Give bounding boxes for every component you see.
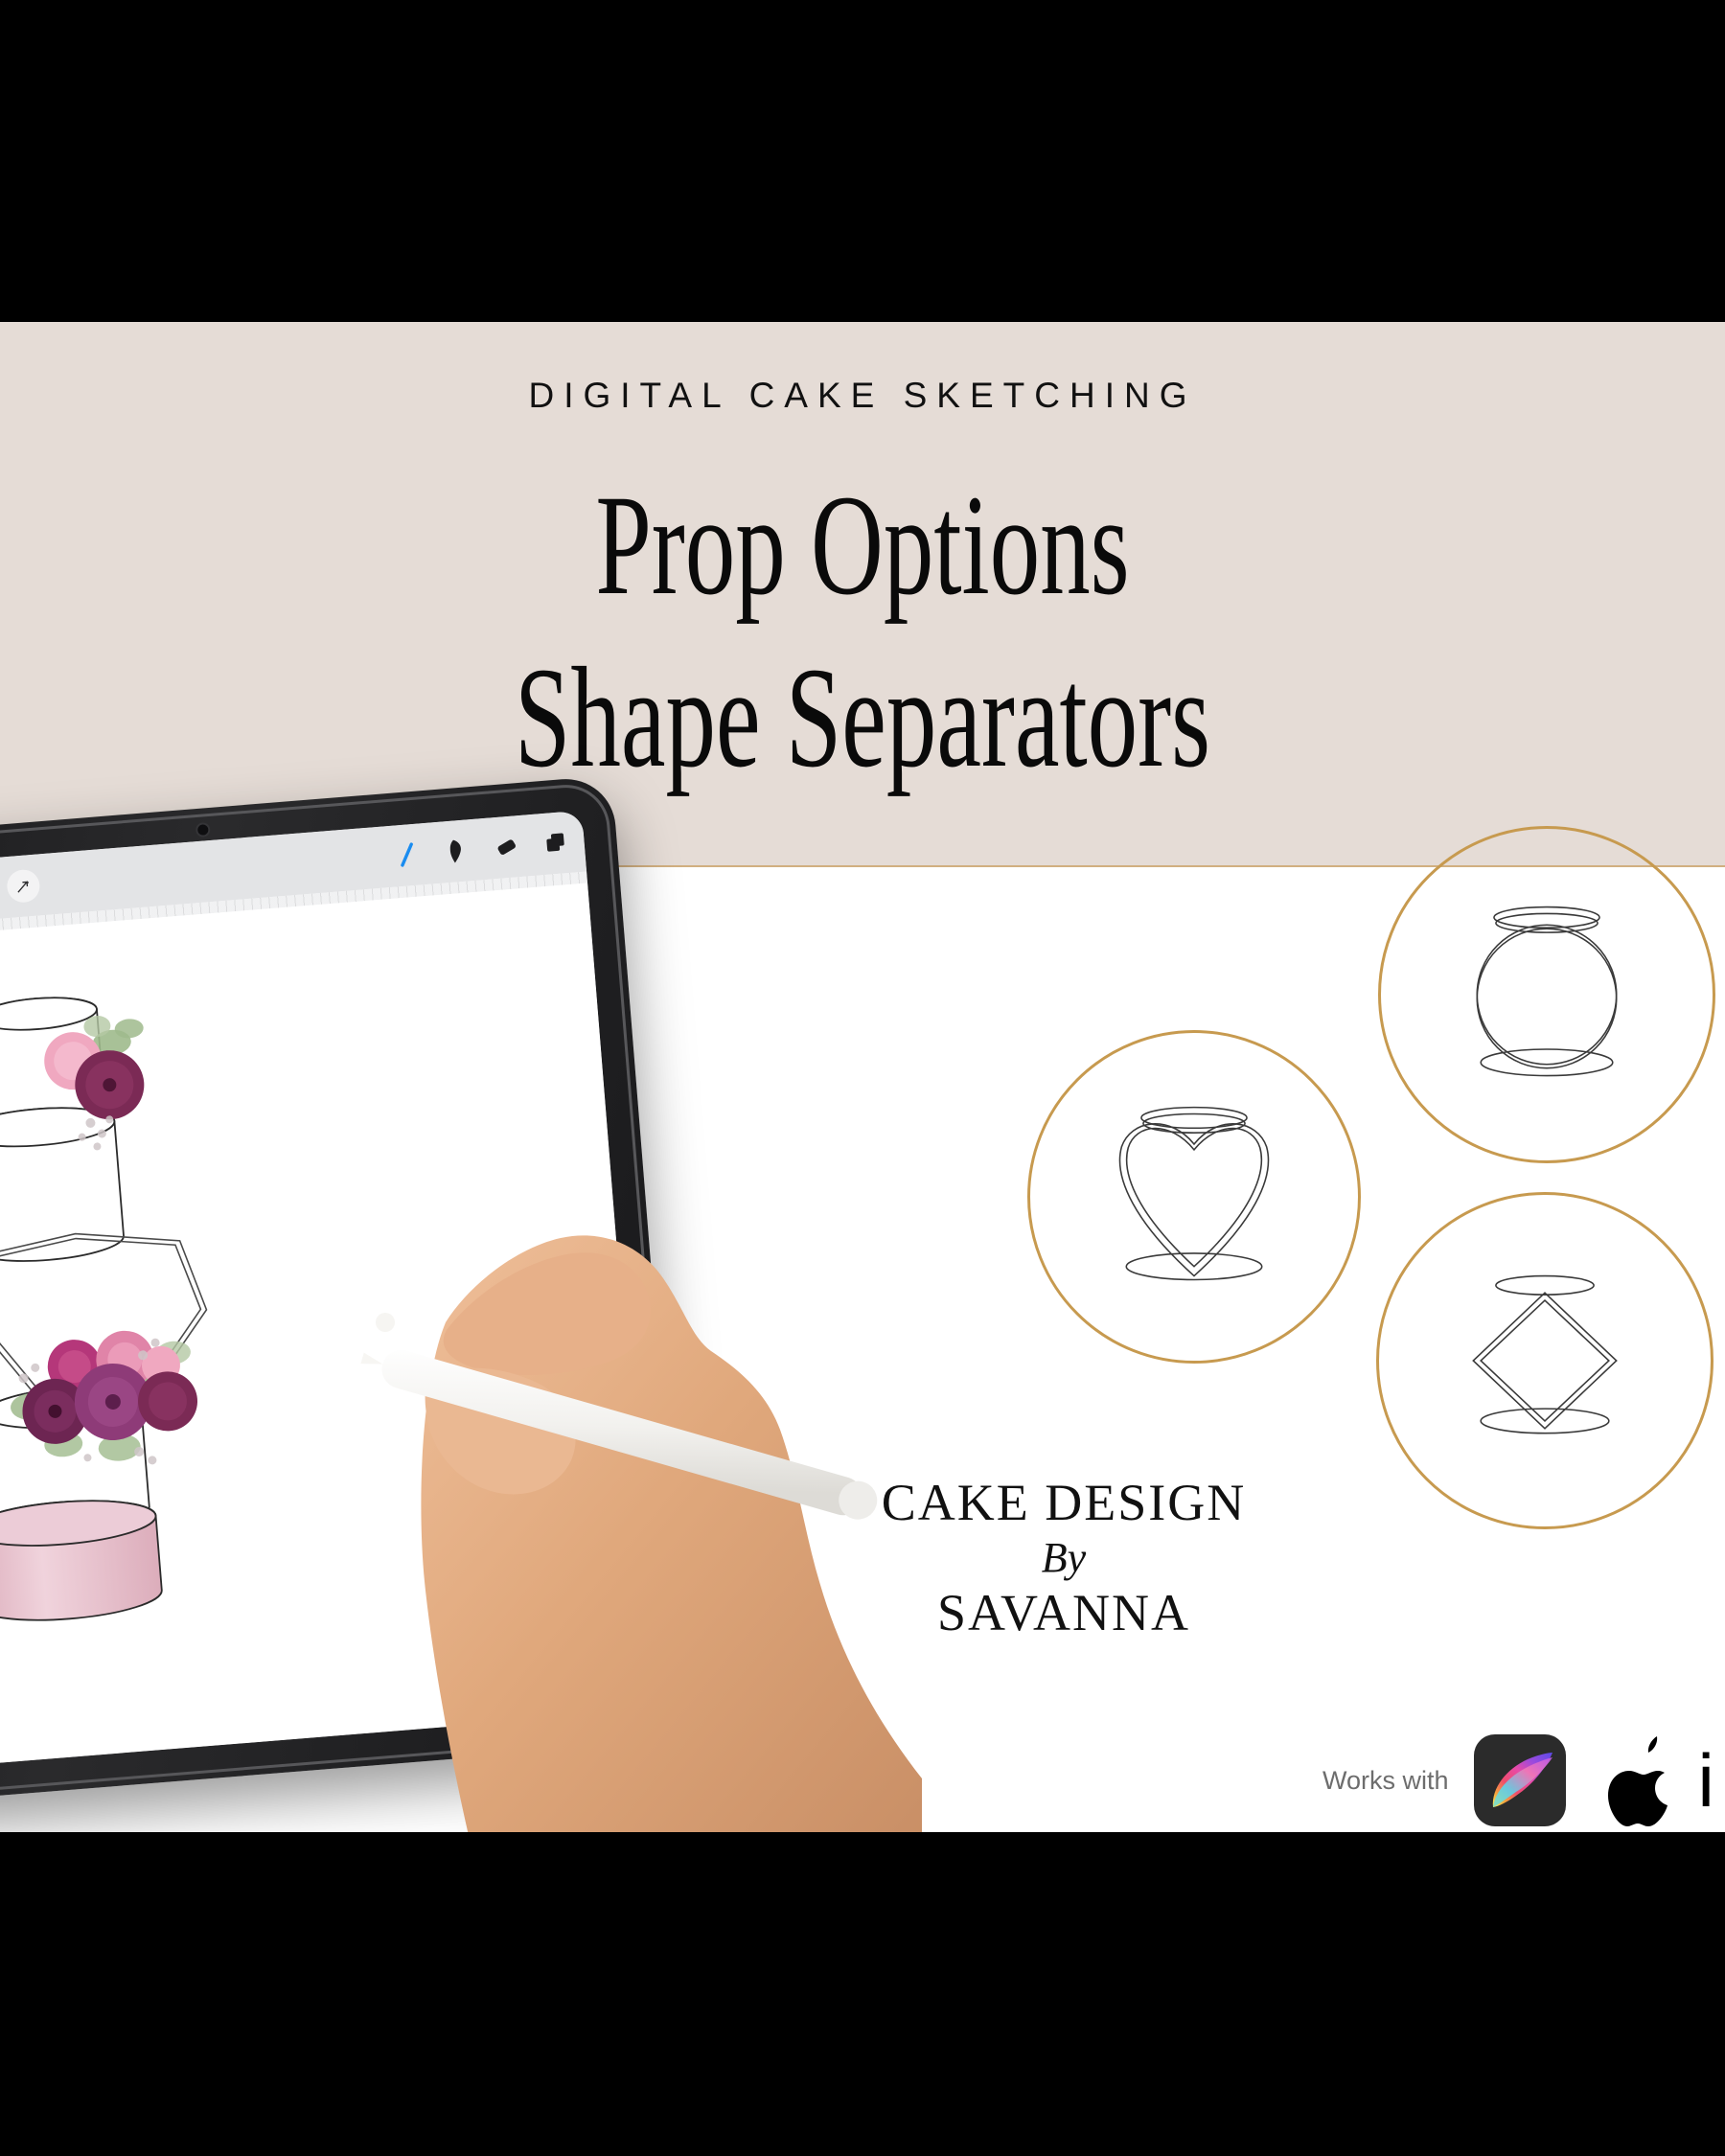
toolbar-right-group [394,828,570,870]
brush-icon[interactable] [394,839,421,870]
transform-icon[interactable] [6,868,41,904]
brand-line-2: SAVANNA [853,1586,1275,1640]
letterbox-top [0,0,1725,322]
toolbar-left-group: ry S [0,868,41,916]
apple-logo-icon [1591,1734,1673,1826]
poster-canvas: DIGITAL CAKE SKETCHING Prop Options Shap… [0,0,1725,2156]
cake-sketch-artwork [0,930,412,1721]
letterbox-bottom [0,1832,1725,2156]
procreate-icon [1474,1734,1566,1826]
ipad-label: i [1698,1747,1714,1814]
heart-separator[interactable] [1027,1030,1361,1364]
diamond-separator[interactable] [1376,1192,1713,1529]
layers-icon[interactable] [542,828,569,859]
eyebrow-text: DIGITAL CAKE SKETCHING [0,376,1725,416]
works-with-row: Works with [1322,1734,1714,1826]
brand-line-1: CAKE DESIGN [853,1476,1275,1530]
eraser-icon[interactable] [494,832,520,862]
brand-by-word: By [853,1534,1275,1583]
page-title-line1: Prop Options [259,473,1466,617]
page-title-line2: Shape Separators [259,646,1466,790]
circle-separator[interactable] [1378,826,1715,1163]
brand-block: CAKE DESIGN By SAVANNA [853,1476,1275,1640]
works-with-label: Works with [1322,1766,1449,1796]
smudge-icon[interactable] [444,836,471,866]
